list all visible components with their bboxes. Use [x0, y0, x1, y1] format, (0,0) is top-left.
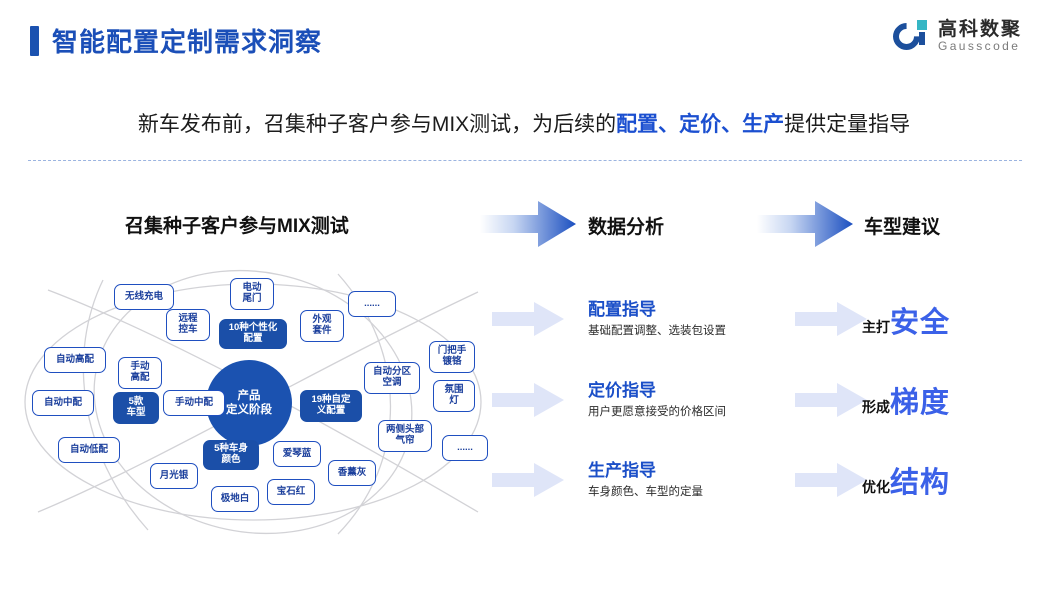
node-label: 19种自定义配置	[311, 395, 350, 416]
suggestion-keyword: 安全	[890, 299, 950, 341]
mindmap-node-ellipsis-right[interactable]: ......	[442, 435, 488, 461]
node-label: 无线充电	[125, 292, 163, 303]
mindmap-node-manual-mid-trim[interactable]: 手动中配	[163, 390, 225, 416]
mindmap-node-polar-white[interactable]: 极地白	[211, 486, 259, 512]
section-divider	[28, 160, 1022, 161]
suggestion-row: 主打 安全	[862, 299, 950, 341]
center-label-line1: 产品	[226, 389, 272, 403]
column-header-left: 召集种子客户参与MIX测试	[125, 211, 349, 238]
row-arrow-icon	[492, 463, 564, 497]
suggestion-keyword: 梯度	[890, 379, 950, 421]
mindmap-node-5-body-colors[interactable]: 5种车身颜色	[203, 440, 259, 470]
node-label: 月光银	[160, 471, 189, 482]
mindmap-node-manual-high-trim[interactable]: 手动高配	[118, 357, 162, 389]
node-label: 手动高配	[130, 362, 149, 383]
node-label: 自动低配	[70, 445, 108, 456]
gausscode-logo-icon	[893, 18, 929, 54]
title-accent-bar	[30, 26, 39, 56]
row-arrow-icon	[795, 383, 867, 417]
mindmap-node-moonlight-silver[interactable]: 月光银	[150, 463, 198, 489]
node-label: 氛围灯	[444, 385, 463, 406]
node-label: ......	[457, 443, 473, 454]
subtitle-highlight: 配置、定价、生产	[616, 113, 784, 136]
brand-logo: 高科数聚 Gausscode	[893, 18, 1022, 54]
mindmap-node-auto-high-trim[interactable]: 自动高配	[44, 347, 106, 373]
row-arrow-icon	[795, 463, 867, 497]
node-label: 极地白	[221, 494, 250, 505]
mindmap-node-aegean-blue[interactable]: 爱琴蓝	[273, 441, 321, 467]
node-label: 5款车型	[126, 397, 145, 418]
subtitle-part1: 新车发布前，召集种子客户参与MIX测试，为后续的	[138, 113, 616, 136]
suggestion-prefix: 形成	[862, 397, 890, 417]
suggestion-prefix: 优化	[862, 477, 890, 497]
flow-arrow-icon-1	[480, 200, 576, 248]
node-label: 远程控车	[178, 314, 197, 335]
node-label: 手动中配	[175, 398, 213, 409]
node-label: 爱琴蓝	[283, 449, 312, 460]
page-title-text: 智能配置定制需求洞察	[52, 22, 322, 59]
subtitle-part2: 提供定量指导	[784, 113, 910, 136]
row-arrow-icon	[492, 383, 564, 417]
node-label: 两侧头部气帘	[386, 425, 424, 446]
column-header-right: 车型建议	[864, 212, 940, 239]
mindmap-node-ambient-light[interactable]: 氛围灯	[433, 380, 475, 412]
mindmap-node-exterior-kit[interactable]: 外观套件	[300, 310, 344, 342]
node-label: ......	[364, 299, 380, 310]
flow-arrow-icon-2	[757, 200, 853, 248]
node-label: 外观套件	[312, 315, 331, 336]
logo-name-en: Gausscode	[938, 40, 1022, 53]
node-label: 电动尾门	[242, 283, 261, 304]
mindmap-node-lavender-gray[interactable]: 香薰灰	[328, 460, 376, 486]
row-arrow-icon	[795, 302, 867, 336]
mindmap-node-auto-low-trim[interactable]: 自动低配	[58, 437, 120, 463]
mindmap-node-door-handle-chrome[interactable]: 门把手镀铬	[429, 341, 475, 373]
slide-root: 智能配置定制需求洞察 高科数聚 Gausscode 新车发布前，召集种子客户参与…	[0, 0, 1048, 589]
mindmap-node-ruby-red[interactable]: 宝石红	[267, 479, 315, 505]
mindmap-node-power-tailgate[interactable]: 电动尾门	[230, 278, 274, 310]
mindmap-node-remote-control[interactable]: 远程控车	[166, 309, 210, 341]
node-label: 10种个性化配置	[229, 323, 278, 344]
node-label: 自动分区空调	[373, 367, 411, 388]
column-header-middle: 数据分析	[588, 212, 664, 239]
suggestion-row: 优化 结构	[862, 459, 950, 501]
suggestion-row: 形成 梯度	[862, 379, 950, 421]
node-label: 门把手镀铬	[438, 346, 467, 367]
page-title: 智能配置定制需求洞察	[30, 22, 322, 59]
mindmap-node-19-custom[interactable]: 19种自定义配置	[300, 390, 362, 422]
mindmap-node-wireless-charging[interactable]: 无线充电	[114, 284, 174, 310]
mindmap-node-auto-zone-ac[interactable]: 自动分区空调	[364, 362, 420, 394]
mindmap-node-side-head-airbag[interactable]: 两侧头部气帘	[378, 420, 432, 452]
mindmap: 产品 定义阶段 无线充电 电动尾门 ...... 远程控车 外观套件 10种个性…	[8, 262, 498, 542]
mindmap-node-5-models[interactable]: 5款车型	[113, 392, 159, 424]
node-label: 自动中配	[44, 398, 82, 409]
subtitle: 新车发布前，召集种子客户参与MIX测试，为后续的配置、定价、生产提供定量指导	[0, 108, 1048, 138]
suggestion-keyword: 结构	[890, 459, 950, 501]
mindmap-node-ellipsis-top[interactable]: ......	[348, 291, 396, 317]
node-label: 宝石红	[277, 487, 306, 498]
node-label: 香薰灰	[338, 468, 367, 479]
row-arrow-icon	[492, 302, 564, 336]
node-label: 5种车身颜色	[214, 444, 248, 465]
logo-name-cn: 高科数聚	[938, 20, 1022, 40]
mindmap-node-10-personalized[interactable]: 10种个性化配置	[219, 319, 287, 349]
center-label-line2: 定义阶段	[226, 403, 272, 417]
suggestion-prefix: 主打	[862, 317, 890, 337]
node-label: 自动高配	[56, 355, 94, 366]
mindmap-node-auto-mid-trim[interactable]: 自动中配	[32, 390, 94, 416]
